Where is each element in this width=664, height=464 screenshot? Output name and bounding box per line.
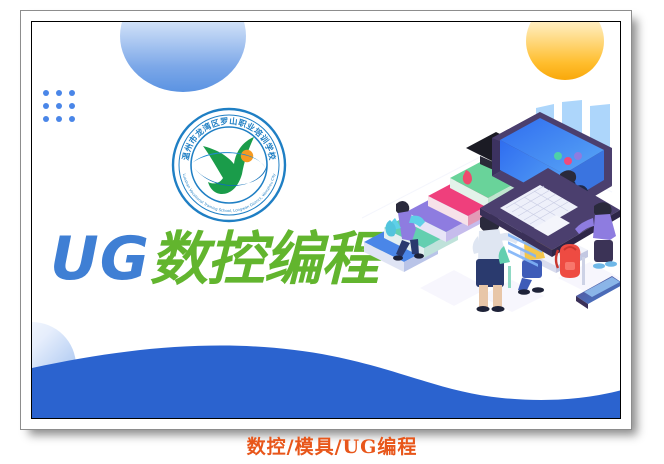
slide-canvas: 温州市龙湾区罗山职业培训学校 Luoshan Vocational Traini… xyxy=(32,22,620,418)
slide-title-chinese: 数控编程 xyxy=(150,225,378,293)
blue-wave-decoration xyxy=(32,332,620,418)
screenshot-canvas: 温州市龙湾区罗山职业培训学校 Luoshan Vocational Traini… xyxy=(0,0,664,464)
dot-grid-icon xyxy=(43,90,75,122)
slide-title: UG数控编程 xyxy=(50,218,410,300)
image-caption: 数控/模具/UG编程 xyxy=(0,432,664,459)
orange-circle-decoration xyxy=(526,22,604,80)
school-logo: 温州市龙湾区罗山职业培训学校 Luoshan Vocational Traini… xyxy=(170,106,288,224)
slide-title-latin: UG xyxy=(50,224,150,294)
slide-inner-frame: 温州市龙湾区罗山职业培训学校 Luoshan Vocational Traini… xyxy=(31,21,621,419)
blue-circle-decoration-top xyxy=(120,22,246,92)
education-illustration xyxy=(362,100,620,322)
